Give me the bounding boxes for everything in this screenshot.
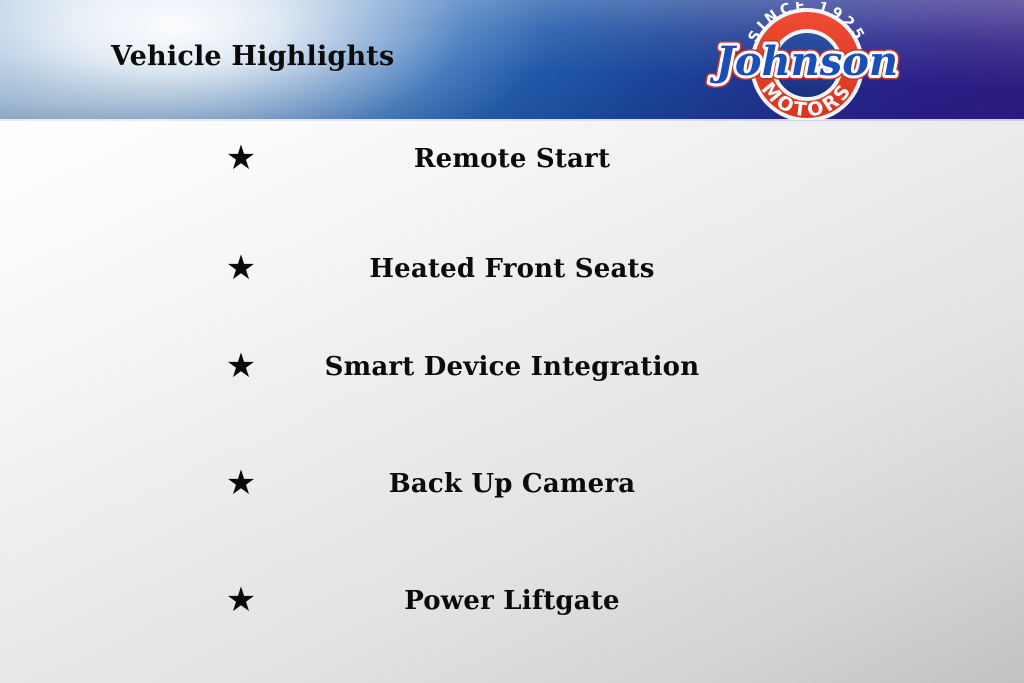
highlight-label: Remote Start xyxy=(0,138,1024,180)
logo-wordmark: Johnson Johnson Johnson xyxy=(709,38,898,85)
list-item: ★ Heated Front Seats xyxy=(0,248,1024,292)
svg-text:Johnson: Johnson xyxy=(709,38,898,85)
list-item: ★ Back Up Camera xyxy=(0,463,1024,507)
vehicle-highlights-slide: Vehicle Highlights xyxy=(0,0,1024,683)
highlight-label: Heated Front Seats xyxy=(0,248,1024,290)
johnson-motors-logo: SINCE 1925 MOTORS Johnson Johnson Johnso… xyxy=(705,2,920,120)
highlight-label: Power Liftgate xyxy=(0,580,1024,622)
list-item: ★ Power Liftgate xyxy=(0,580,1024,624)
highlight-label: Back Up Camera xyxy=(0,463,1024,505)
list-item: ★ Remote Start xyxy=(0,138,1024,182)
vehicle-highlights-list: ★ Remote Start ★ Heated Front Seats ★ Sm… xyxy=(0,119,1024,683)
page-title: Vehicle Highlights xyxy=(111,41,394,72)
list-item: ★ Smart Device Integration xyxy=(0,346,1024,390)
highlight-label: Smart Device Integration xyxy=(0,346,1024,388)
